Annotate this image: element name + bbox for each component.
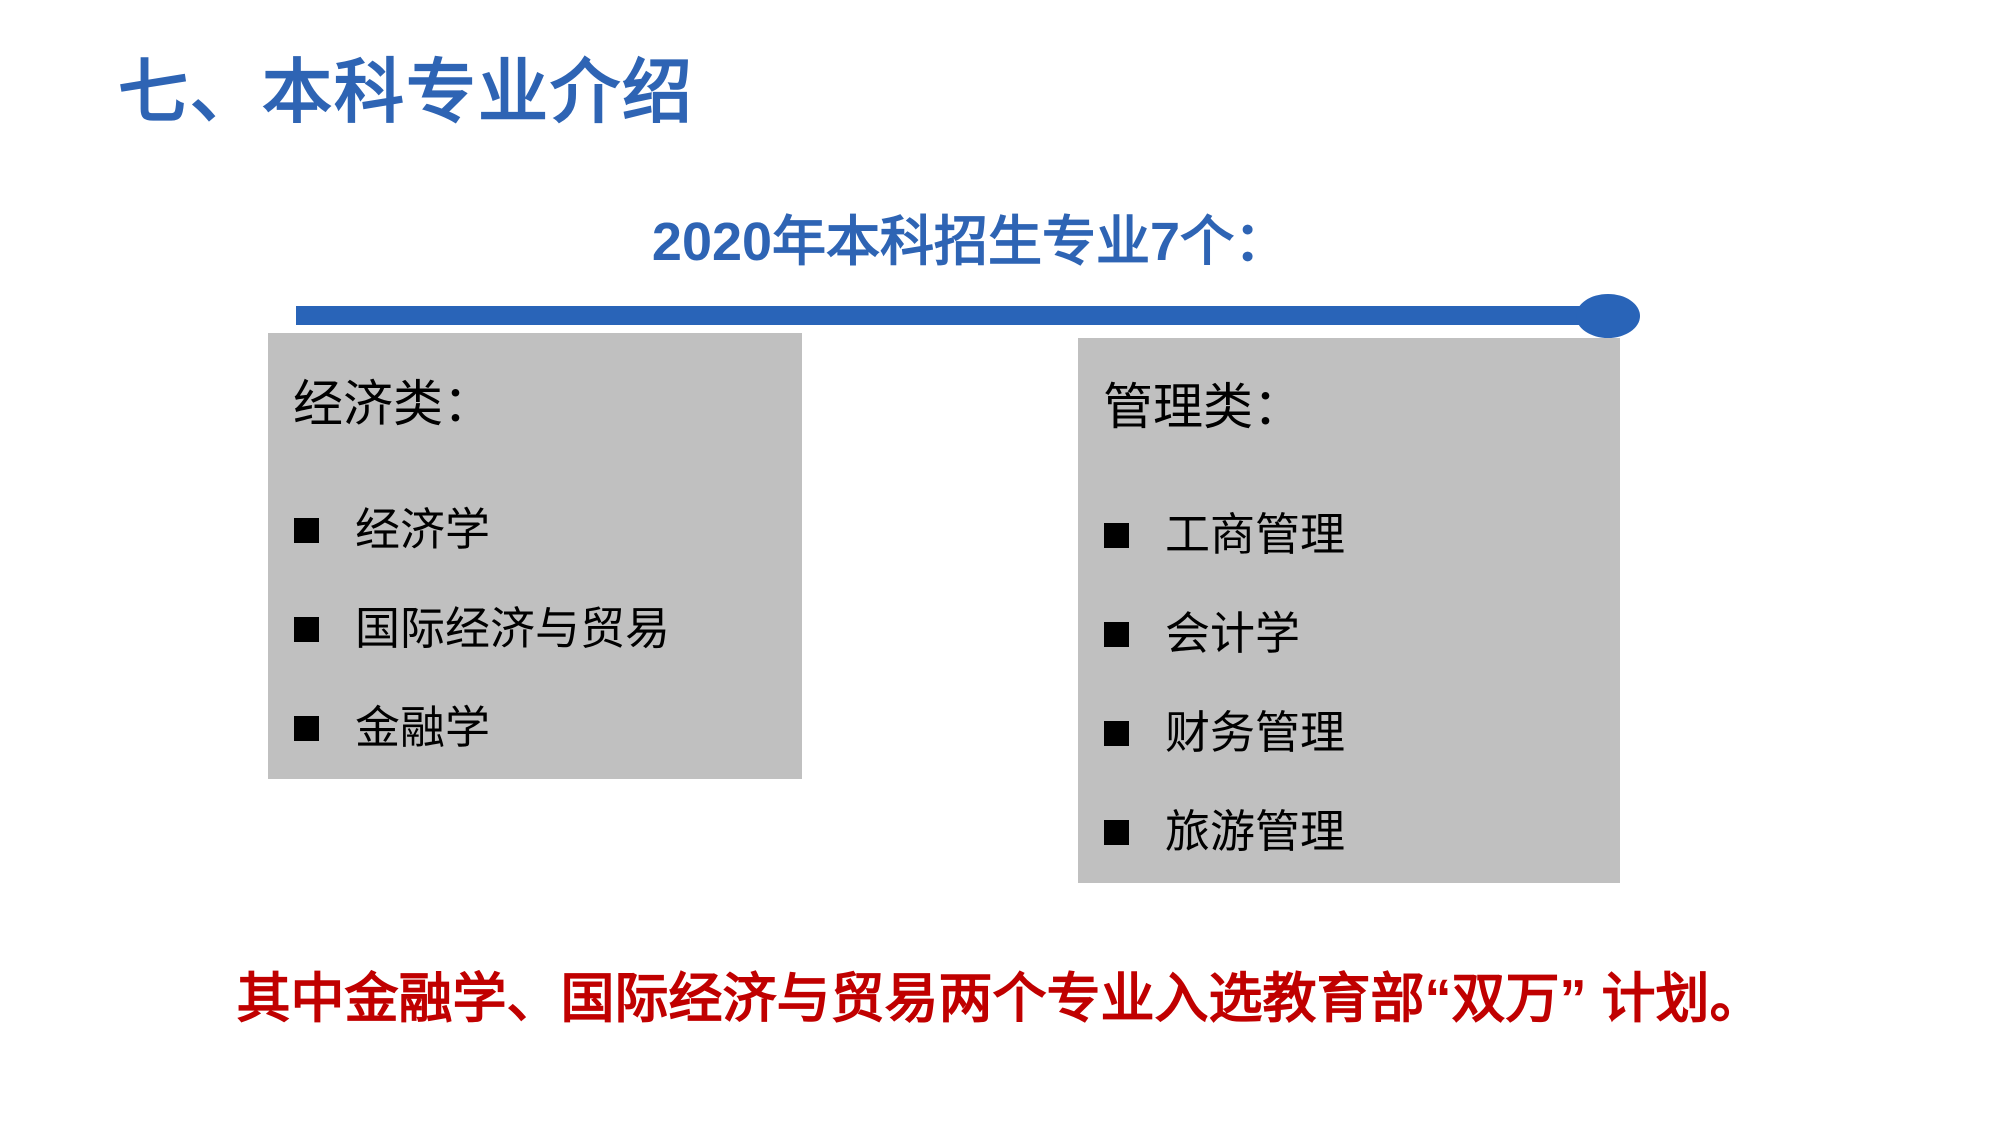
slide-canvas: 七、本科专业介绍 2020年本科招生专业7个： 经济类： 经济学 国际经济与贸易… bbox=[0, 0, 2000, 1125]
list-item-label: 会计学 bbox=[1165, 612, 1300, 657]
list-item-label: 工商管理 bbox=[1165, 513, 1345, 558]
panel-economics: 经济类： 经济学 国际经济与贸易 金融学 bbox=[268, 333, 802, 779]
list-item-label: 金融学 bbox=[355, 706, 490, 751]
list-item: 金融学 bbox=[294, 679, 774, 778]
filled-square-bullet-icon bbox=[294, 518, 319, 543]
filled-square-bullet-icon bbox=[1104, 820, 1129, 845]
list-item: 经济学 bbox=[294, 481, 774, 580]
list-item-label: 财务管理 bbox=[1165, 711, 1345, 756]
list-item: 工商管理 bbox=[1104, 486, 1594, 585]
panel-economics-list: 经济学 国际经济与贸易 金融学 bbox=[294, 481, 774, 778]
filled-square-bullet-icon bbox=[1104, 721, 1129, 746]
panel-management-heading: 管理类： bbox=[1103, 382, 1303, 432]
filled-square-bullet-icon bbox=[1104, 523, 1129, 548]
panel-economics-heading: 经济类： bbox=[293, 379, 493, 429]
page-title: 七、本科专业介绍 bbox=[118, 54, 694, 131]
list-item-label: 国际经济与贸易 bbox=[355, 607, 670, 652]
list-item-label: 旅游管理 bbox=[1165, 810, 1345, 855]
list-item: 旅游管理 bbox=[1104, 783, 1594, 882]
divider-knob-icon bbox=[1576, 294, 1640, 338]
divider-bar bbox=[296, 306, 1606, 325]
filled-square-bullet-icon bbox=[294, 617, 319, 642]
list-item: 国际经济与贸易 bbox=[294, 580, 774, 679]
list-item: 会计学 bbox=[1104, 585, 1594, 684]
list-item-label: 经济学 bbox=[355, 508, 490, 553]
filled-square-bullet-icon bbox=[294, 716, 319, 741]
slide-subtitle: 2020年本科招生专业7个： bbox=[300, 213, 1640, 272]
panel-management: 管理类： 工商管理 会计学 财务管理 旅游管理 bbox=[1078, 338, 1620, 883]
filled-square-bullet-icon bbox=[1104, 622, 1129, 647]
footer-highlight-note: 其中金融学、国际经济与贸易两个专业入选教育部“双万” 计划。 bbox=[0, 968, 2000, 1030]
list-item: 财务管理 bbox=[1104, 684, 1594, 783]
panel-management-list: 工商管理 会计学 财务管理 旅游管理 bbox=[1104, 486, 1594, 882]
